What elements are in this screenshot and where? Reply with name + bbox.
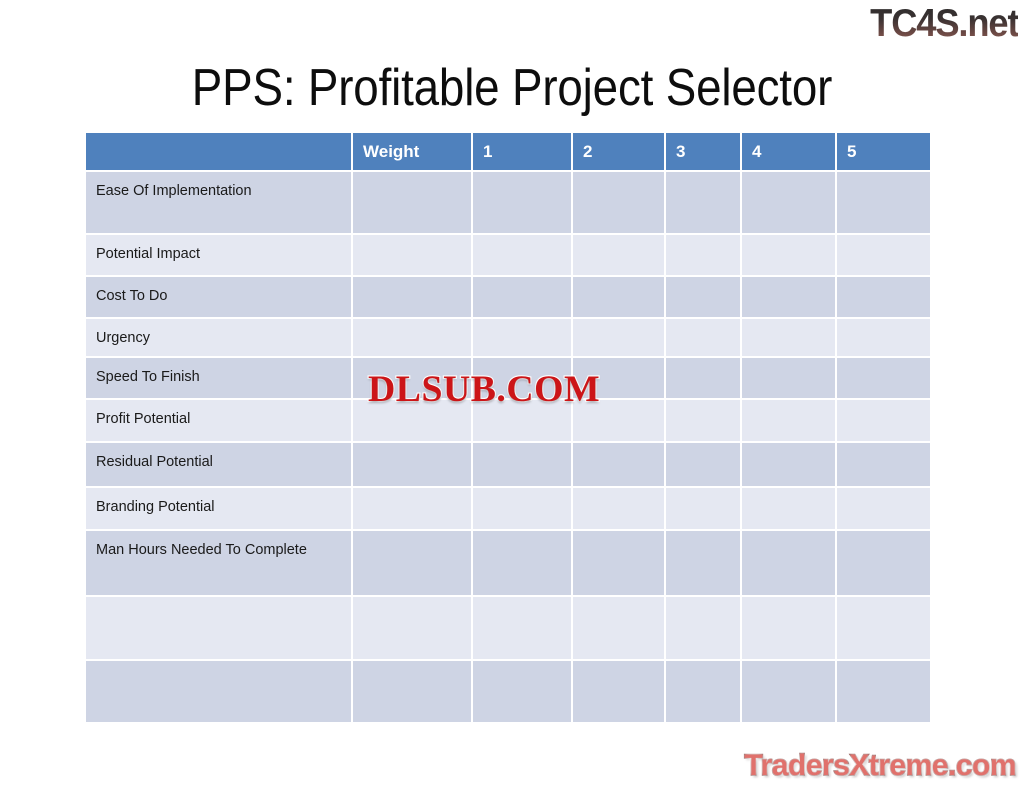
score-cell-weight[interactable] xyxy=(353,172,473,235)
score-cell-s3[interactable] xyxy=(666,531,742,597)
table-row: Residual Potential xyxy=(86,443,930,488)
table-body: Ease Of ImplementationPotential ImpactCo… xyxy=(86,172,930,724)
center-watermark: DLSUB.COM xyxy=(368,370,600,410)
criterion-label[interactable]: Speed To Finish xyxy=(86,358,353,400)
score-cell-s5[interactable] xyxy=(837,277,930,319)
score-cell-s5[interactable] xyxy=(837,488,930,531)
score-cell-s4[interactable] xyxy=(742,172,837,235)
score-cell-s1[interactable] xyxy=(473,488,573,531)
score-cell-s4[interactable] xyxy=(742,443,837,488)
score-cell-s1[interactable] xyxy=(473,277,573,319)
table-corner-cell xyxy=(86,133,353,172)
criterion-label[interactable] xyxy=(86,597,353,661)
table-row: Cost To Do xyxy=(86,277,930,319)
score-cell-s5[interactable] xyxy=(837,400,930,443)
score-cell-s4[interactable] xyxy=(742,358,837,400)
criterion-label[interactable]: Ease Of Implementation xyxy=(86,172,353,235)
score-cell-s5[interactable] xyxy=(837,235,930,277)
criterion-label[interactable]: Cost To Do xyxy=(86,277,353,319)
column-header-s1: 1 xyxy=(473,133,573,172)
score-cell-weight[interactable] xyxy=(353,597,473,661)
score-cell-s4[interactable] xyxy=(742,235,837,277)
score-cell-s5[interactable] xyxy=(837,172,930,235)
column-header-weight: Weight xyxy=(353,133,473,172)
score-cell-s1[interactable] xyxy=(473,661,573,724)
table-row: Ease Of Implementation xyxy=(86,172,930,235)
table-header-row: Weight12345 xyxy=(86,133,930,172)
score-cell-weight[interactable] xyxy=(353,488,473,531)
table-row: Man Hours Needed To Complete xyxy=(86,531,930,597)
score-cell-s3[interactable] xyxy=(666,443,742,488)
table-row xyxy=(86,597,930,661)
score-cell-s5[interactable] xyxy=(837,358,930,400)
table-row: Urgency xyxy=(86,319,930,358)
score-cell-s2[interactable] xyxy=(573,488,666,531)
footer-watermark: TradersXtreme.com xyxy=(744,749,1016,783)
criterion-label[interactable] xyxy=(86,661,353,724)
score-cell-s4[interactable] xyxy=(742,597,837,661)
score-cell-s5[interactable] xyxy=(837,531,930,597)
table-row: Potential Impact xyxy=(86,235,930,277)
score-cell-s2[interactable] xyxy=(573,235,666,277)
score-cell-s1[interactable] xyxy=(473,235,573,277)
score-cell-s2[interactable] xyxy=(573,172,666,235)
table-row: Branding Potential xyxy=(86,488,930,531)
criterion-label[interactable]: Profit Potential xyxy=(86,400,353,443)
score-cell-s1[interactable] xyxy=(473,172,573,235)
score-cell-s5[interactable] xyxy=(837,443,930,488)
table-row xyxy=(86,661,930,724)
score-cell-s5[interactable] xyxy=(837,597,930,661)
column-header-s3: 3 xyxy=(666,133,742,172)
page-title: PPS: Profitable Project Selector xyxy=(61,57,962,119)
score-cell-s5[interactable] xyxy=(837,319,930,358)
score-cell-s4[interactable] xyxy=(742,661,837,724)
score-cell-s1[interactable] xyxy=(473,443,573,488)
criterion-label[interactable]: Branding Potential xyxy=(86,488,353,531)
score-cell-s2[interactable] xyxy=(573,319,666,358)
project-scoring-table: Weight12345 Ease Of ImplementationPotent… xyxy=(86,133,930,724)
criterion-label[interactable]: Urgency xyxy=(86,319,353,358)
score-cell-s1[interactable] xyxy=(473,319,573,358)
score-cell-s2[interactable] xyxy=(573,277,666,319)
brand-logo: TC4S.net xyxy=(870,2,1018,46)
score-cell-weight[interactable] xyxy=(353,277,473,319)
score-cell-s3[interactable] xyxy=(666,661,742,724)
table-header: Weight12345 xyxy=(86,133,930,172)
score-cell-s4[interactable] xyxy=(742,277,837,319)
score-cell-s4[interactable] xyxy=(742,531,837,597)
score-cell-weight[interactable] xyxy=(353,319,473,358)
score-cell-weight[interactable] xyxy=(353,531,473,597)
criterion-label[interactable]: Man Hours Needed To Complete xyxy=(86,531,353,597)
score-cell-s2[interactable] xyxy=(573,531,666,597)
score-cell-s2[interactable] xyxy=(573,597,666,661)
score-cell-weight[interactable] xyxy=(353,235,473,277)
score-cell-s4[interactable] xyxy=(742,400,837,443)
score-cell-s5[interactable] xyxy=(837,661,930,724)
score-cell-s2[interactable] xyxy=(573,661,666,724)
score-cell-s1[interactable] xyxy=(473,531,573,597)
score-cell-s3[interactable] xyxy=(666,488,742,531)
column-header-s4: 4 xyxy=(742,133,837,172)
score-cell-s3[interactable] xyxy=(666,597,742,661)
column-header-s5: 5 xyxy=(837,133,930,172)
score-cell-s3[interactable] xyxy=(666,277,742,319)
score-cell-s3[interactable] xyxy=(666,172,742,235)
score-cell-s2[interactable] xyxy=(573,443,666,488)
score-cell-s3[interactable] xyxy=(666,358,742,400)
column-header-s2: 2 xyxy=(573,133,666,172)
score-cell-s4[interactable] xyxy=(742,488,837,531)
criterion-label[interactable]: Residual Potential xyxy=(86,443,353,488)
score-cell-s4[interactable] xyxy=(742,319,837,358)
score-cell-s3[interactable] xyxy=(666,319,742,358)
score-cell-weight[interactable] xyxy=(353,443,473,488)
score-cell-weight[interactable] xyxy=(353,661,473,724)
criterion-label[interactable]: Potential Impact xyxy=(86,235,353,277)
score-cell-s1[interactable] xyxy=(473,597,573,661)
score-cell-s3[interactable] xyxy=(666,235,742,277)
score-cell-s3[interactable] xyxy=(666,400,742,443)
